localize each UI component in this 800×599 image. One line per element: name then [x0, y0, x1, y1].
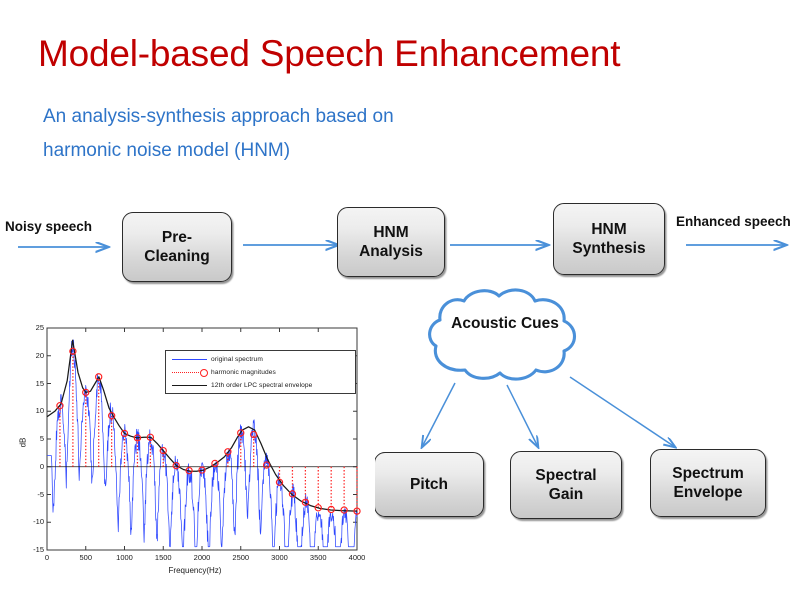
legend-sample-original-spectrum — [166, 353, 211, 366]
spectrum-chart: 05001000150020002500300035004000 -15-10-… — [15, 320, 375, 582]
process-box-hnm-synthesis-line1: HNM — [572, 220, 645, 239]
y-tick-label: 10 — [20, 406, 44, 415]
process-box-pre-cleaning-line2: Cleaning — [144, 247, 209, 266]
process-box-hnm-synthesis[interactable]: HNM Synthesis — [553, 203, 665, 275]
process-box-hnm-analysis-line1: HNM — [359, 223, 423, 242]
x-tick-label: 2000 — [187, 553, 217, 562]
y-tick-label: 0 — [20, 462, 44, 471]
slide-canvas: Model-based Speech Enhancement An analys… — [0, 0, 800, 599]
process-box-hnm-analysis-line2: Analysis — [359, 242, 423, 261]
cue-box-pitch-line1: Pitch — [410, 475, 448, 494]
page-title: Model-based Speech Enhancement — [38, 32, 620, 76]
process-box-hnm-synthesis-line2: Synthesis — [572, 239, 645, 258]
cue-box-pitch[interactable]: Pitch — [374, 452, 484, 517]
x-tick-label: 2500 — [226, 553, 256, 562]
x-tick-label: 0 — [32, 553, 62, 562]
cue-box-spectrum-envelope-line2: Envelope — [672, 483, 744, 502]
legend-sample-harmonic-magnitudes — [166, 366, 211, 379]
y-tick-label: 20 — [20, 351, 44, 360]
x-tick-label: 3000 — [265, 553, 295, 562]
legend-entry-original-spectrum: original spectrum — [166, 353, 355, 366]
cue-box-spectrum-envelope[interactable]: Spectrum Envelope — [650, 449, 766, 517]
legend-entry-harmonic-magnitudes: harmonic magnitudes — [166, 366, 355, 379]
arrow-cloud-to-spectral-gain — [507, 385, 538, 447]
y-tick-label: -15 — [20, 545, 44, 554]
x-tick-label: 1500 — [148, 553, 178, 562]
x-tick-label: 500 — [71, 553, 101, 562]
subtitle-line-1: An analysis-synthesis approach based on — [43, 105, 394, 129]
y-tick-label: 15 — [20, 379, 44, 388]
y-tick-label: 25 — [20, 323, 44, 332]
y-tick-label: -10 — [20, 517, 44, 526]
legend-label-harmonic-magnitudes: harmonic magnitudes — [211, 369, 276, 376]
process-box-pre-cleaning-line1: Pre- — [144, 228, 209, 247]
cue-box-spectral-gain-line1: Spectral — [535, 466, 596, 485]
cue-box-spectral-gain-line2: Gain — [535, 485, 596, 504]
cue-box-spectrum-envelope-line1: Spectrum — [672, 464, 744, 483]
arrow-cloud-to-spectrum-envelope — [570, 377, 675, 447]
cloud-label: Acoustic Cues — [420, 314, 590, 334]
x-tick-label: 4000 — [342, 553, 372, 562]
chart-legend: original spectrum harmonic magnitudes 12… — [165, 350, 356, 394]
process-box-hnm-analysis[interactable]: HNM Analysis — [337, 207, 445, 277]
cloud-label-line2: Cues — [521, 315, 559, 332]
cue-box-spectral-gain[interactable]: Spectral Gain — [510, 451, 622, 519]
y-axis-label: dB — [19, 423, 28, 463]
subtitle-line-2: harmonic noise model (HNM) — [43, 139, 290, 163]
x-tick-label: 1000 — [110, 553, 140, 562]
x-axis-label: Frequency(Hz) — [15, 566, 375, 575]
cloud-label-line1: Acoustic — [451, 315, 516, 332]
x-tick-label: 3500 — [303, 553, 333, 562]
legend-entry-lpc-envelope: 12th order LPC spectral envelope — [166, 379, 355, 392]
y-tick-label: -5 — [20, 490, 44, 499]
legend-sample-lpc-envelope — [166, 379, 211, 392]
legend-label-original-spectrum: original spectrum — [211, 356, 263, 363]
legend-label-lpc-envelope: 12th order LPC spectral envelope — [211, 382, 312, 389]
arrow-cloud-to-pitch — [422, 383, 455, 447]
process-box-pre-cleaning[interactable]: Pre- Cleaning — [122, 212, 232, 282]
